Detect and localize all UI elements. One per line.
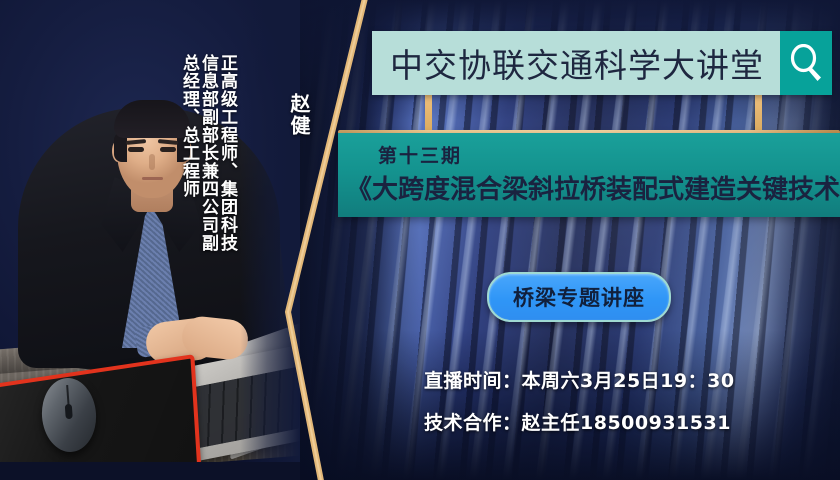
broadcast-time-text: 直播时间：本周六3月25日19：30 — [424, 366, 735, 393]
header-banner-text-area: 中交协联交通科学大讲堂 — [372, 31, 780, 95]
header-banner[interactable]: 中交协联交通科学大讲堂 — [372, 31, 832, 95]
mouse-scroll-wheel — [65, 404, 73, 419]
eye-left — [128, 147, 144, 152]
eye-right — [160, 147, 176, 152]
page-title: 中交协联交通科学大讲堂 — [390, 39, 764, 87]
search-icon-tile[interactable] — [780, 31, 832, 95]
subject-band: 第十三期 《大跨度混合梁斜拉桥装配式建造关键技术》 — [338, 133, 840, 217]
speaker-name: 赵健 — [285, 93, 314, 137]
livestream-promo-poster: 中交协联交通科学大讲堂 第十三期 《大跨度混合梁斜拉桥装配式建造关键技术》 桥梁… — [0, 0, 840, 480]
category-pill-button[interactable]: 桥梁专题讲座 — [487, 272, 671, 322]
nose — [149, 154, 155, 170]
speaker-credential-line-1: 正高级工程师、集团科技 — [215, 54, 240, 252]
photo-right-fade — [240, 0, 300, 480]
gold-connector-left — [425, 92, 432, 134]
issue-label: 第十三期 — [378, 141, 462, 168]
tech-contact-text: 技术合作：赵主任18500931531 — [424, 408, 731, 435]
subject-title: 《大跨度混合梁斜拉桥装配式建造关键技术》 — [346, 169, 840, 206]
category-pill-label: 桥梁专题讲座 — [513, 282, 645, 312]
speaker-photo — [0, 0, 300, 480]
photo-bottom-edge — [0, 462, 300, 480]
search-icon — [789, 44, 823, 82]
gold-connector-right — [755, 92, 762, 134]
mouth — [142, 177, 163, 180]
